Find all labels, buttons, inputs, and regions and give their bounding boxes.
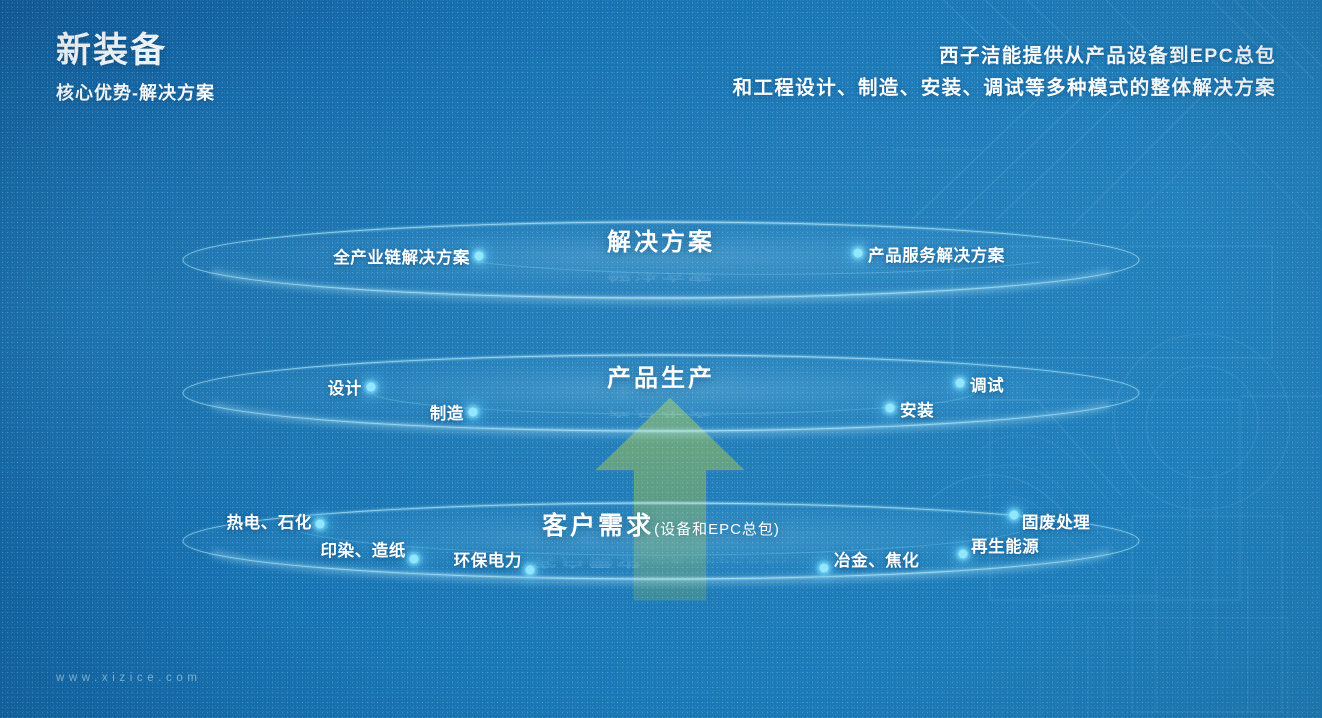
node-label-product-service-solution: 产品服务解决方案 [868, 242, 1005, 266]
header-description: 西子洁能提供从产品设备到EPC总包 和工程设计、制造、安装、调试等多种模式的整体… [733, 40, 1276, 104]
node-label-installation: 安装 [900, 397, 934, 421]
tier-center-label-demand: 客户需求(设备和EPC总包) [0, 506, 1322, 542]
node-dot-icon [886, 404, 895, 413]
node-label-environmental-power: 环保电力 [454, 547, 522, 571]
node-label-manufacturing: 制造 [430, 400, 464, 424]
tier-center-label-solution: 解决方案 [0, 222, 1322, 257]
node-label-metallurgy-coking: 冶金、焦化 [834, 547, 920, 571]
node-label-industry-chain-solution: 全产业链解决方案 [333, 244, 470, 268]
page-subtitle: 核心优势-解决方案 [56, 79, 215, 105]
node-dot-icon [410, 555, 419, 564]
node-label-renewable-energy: 再生能源 [971, 533, 1039, 557]
node-label-printing-papermaking: 印染、造纸 [321, 537, 407, 561]
node-dot-icon [1010, 511, 1019, 520]
node-dot-icon [469, 408, 478, 417]
page-title: 新装备 [56, 30, 215, 71]
node-label-solid-waste-treatment: 固废处理 [1022, 509, 1090, 533]
title-block: 新装备 核心优势-解决方案 [56, 30, 215, 105]
tier-center-label-production: 产品生产 [0, 358, 1322, 393]
node-dot-icon [956, 379, 965, 388]
node-dot-icon [959, 550, 968, 559]
node-dot-icon [316, 520, 325, 529]
footer-website-url: www.xizice.com [56, 672, 202, 684]
node-dot-icon [526, 566, 535, 575]
node-label-commissioning: 调试 [970, 372, 1004, 396]
node-dot-icon [367, 383, 376, 392]
slide-canvas: 新装备 核心优势-解决方案 西子洁能提供从产品设备到EPC总包 和工程设计、制造… [0, 0, 1322, 718]
node-dot-icon [820, 564, 829, 573]
node-label-design: 设计 [328, 375, 362, 399]
node-dot-icon [475, 252, 484, 261]
header-line-2: 和工程设计、制造、安装、调试等多种模式的整体解决方案 [733, 72, 1276, 104]
node-label-thermal-petrochemical: 热电、石化 [227, 509, 313, 533]
tier-center-label-demand-reflection: 客户需求(设备和EPC总包) [0, 553, 1322, 572]
tier-center-label-production-reflection: 产品生产 [0, 403, 1322, 421]
node-dot-icon [854, 249, 863, 258]
header-line-1: 西子洁能提供从产品设备到EPC总包 [733, 40, 1276, 72]
tier-center-label-solution-reflection: 解决方案 [0, 267, 1322, 285]
